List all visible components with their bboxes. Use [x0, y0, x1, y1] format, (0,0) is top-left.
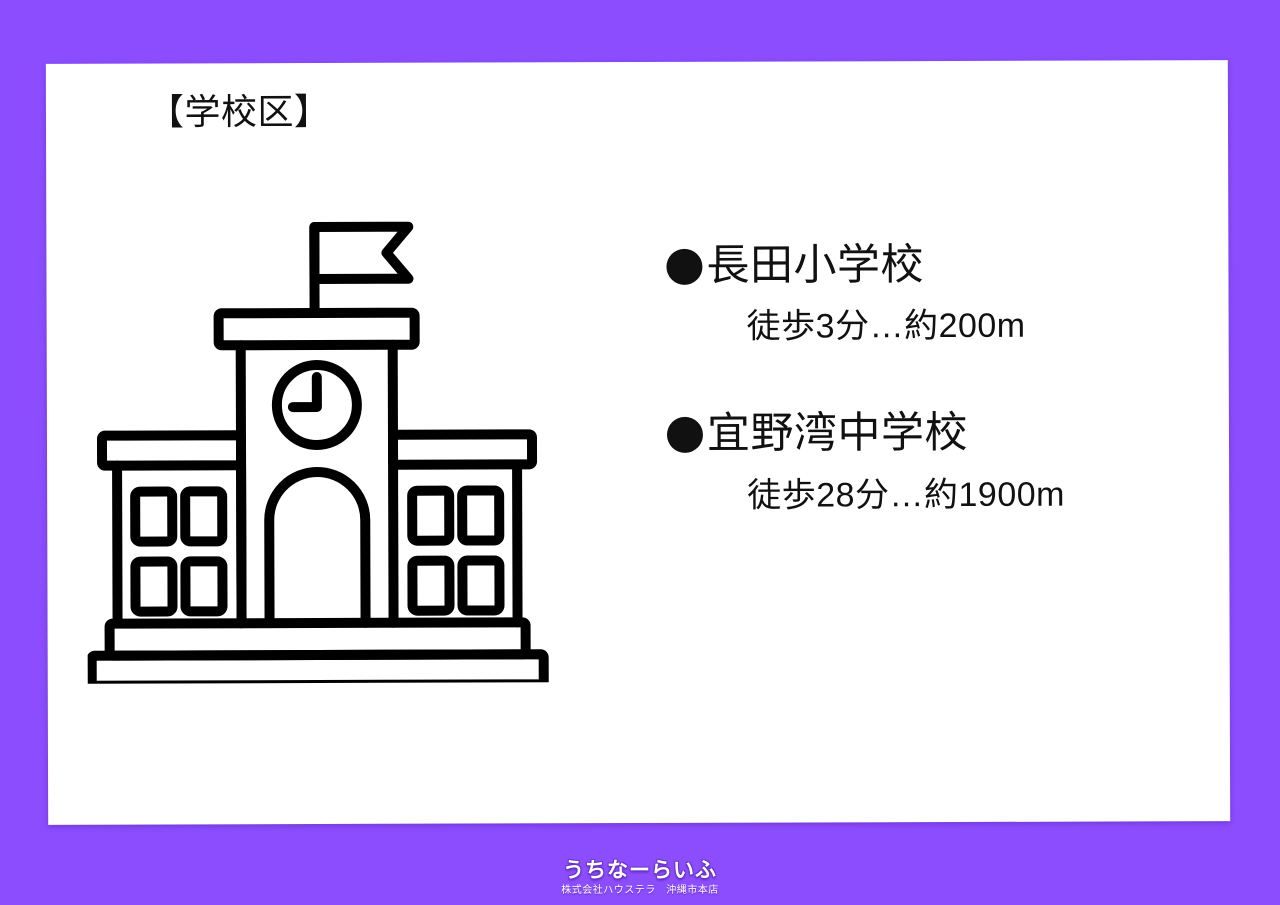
window-icon — [185, 491, 222, 541]
school-building-icon — [86, 212, 557, 683]
base-step-lower — [92, 654, 544, 683]
school-entry-junior-high: 宜野湾中学校 徒歩28分…約1900m — [667, 409, 1187, 517]
slide-card: 【学校区】 — [46, 60, 1230, 825]
slide-card-content: 【学校区】 — [46, 60, 1230, 825]
arched-door — [269, 472, 365, 623]
window-icon — [185, 561, 222, 611]
clock-hands-icon — [293, 377, 317, 407]
schools-list: 長田小学校 徒歩3分…約200m 宜野湾中学校 徒歩28分…約1900m — [666, 240, 1187, 516]
school-distance: 徒歩3分…約200m — [747, 306, 1187, 348]
window-icon — [462, 560, 499, 610]
right-wing-roof — [393, 434, 532, 464]
tower-roof — [219, 313, 415, 346]
flag-icon — [314, 227, 408, 279]
bullet-dot-icon — [667, 417, 703, 453]
school-name: 宜野湾中学校 — [707, 409, 968, 459]
brand-wordmark: うちなーらいふ — [0, 859, 1280, 882]
window-icon — [462, 490, 499, 540]
window-icon — [412, 561, 449, 611]
school-distance: 徒歩28分…約1900m — [747, 474, 1187, 516]
school-name-row: 長田小学校 — [666, 240, 1186, 291]
school-name-row: 宜野湾中学校 — [667, 409, 1187, 460]
school-entry-elementary: 長田小学校 徒歩3分…約200m — [666, 240, 1186, 348]
tower-right-wall — [393, 345, 394, 623]
page-title: 【学校区】 — [148, 89, 331, 135]
bullet-dot-icon — [666, 249, 702, 285]
left-wing-roof — [102, 435, 241, 465]
footer-watermark: うちなーらいふ 株式会社ハウステラ 沖縄市本店 — [0, 859, 1280, 897]
window-icon — [135, 561, 172, 611]
school-name: 長田小学校 — [706, 241, 924, 291]
window-icon — [135, 491, 172, 541]
window-icon — [412, 491, 449, 541]
company-name: 株式会社ハウステラ 沖縄市本店 — [0, 885, 1280, 897]
